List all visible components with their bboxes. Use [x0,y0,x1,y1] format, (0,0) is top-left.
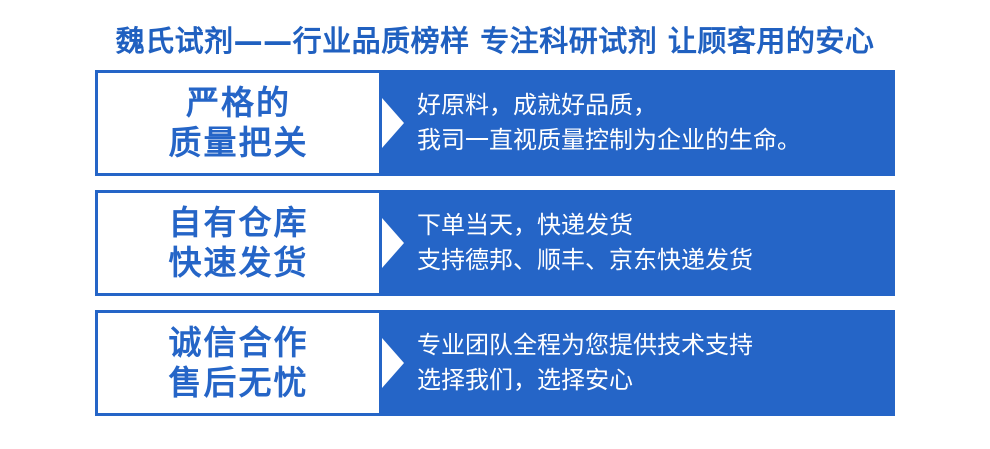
feature-body-line: 选择我们，选择安心 [417,363,883,398]
arrow-icon [382,218,404,268]
feature-body-line: 好原料，成就好品质， [417,88,883,123]
feature-body-line: 我司一直视质量控制为企业的生命。 [417,123,883,158]
feature-body-line: 下单当天，快递发货 [417,208,883,243]
promo-banner: 魏氏试剂——行业品质榜样 专注科研试剂 让顾客用的安心 严格的 质量把关 好原料… [0,0,990,449]
feature-body-line: 专业团队全程为您提供技术支持 [417,328,883,363]
feature-title-line: 自有仓库 [169,203,309,243]
feature-body-line: 支持德邦、顺丰、京东快递发货 [417,243,883,278]
arrow-icon [382,338,404,388]
feature-title-line: 质量把关 [169,123,309,163]
feature-row: 自有仓库 快速发货 下单当天，快递发货 支持德邦、顺丰、京东快递发货 [95,190,895,296]
feature-body-box: 好原料，成就好品质， 我司一直视质量控制为企业的生命。 [382,70,895,176]
feature-title-box: 自有仓库 快速发货 [95,190,382,296]
feature-title-line: 严格的 [186,83,291,123]
feature-list: 严格的 质量把关 好原料，成就好品质， 我司一直视质量控制为企业的生命。 自有仓… [95,70,895,416]
feature-body-box: 专业团队全程为您提供技术支持 选择我们，选择安心 [382,310,895,416]
feature-title-line: 快速发货 [169,243,309,283]
arrow-icon [382,98,404,148]
feature-title-line: 售后无忧 [169,363,309,403]
page-title: 魏氏试剂——行业品质榜样 专注科研试剂 让顾客用的安心 [0,18,990,60]
feature-row: 严格的 质量把关 好原料，成就好品质， 我司一直视质量控制为企业的生命。 [95,70,895,176]
feature-body-box: 下单当天，快递发货 支持德邦、顺丰、京东快递发货 [382,190,895,296]
feature-row: 诚信合作 售后无忧 专业团队全程为您提供技术支持 选择我们，选择安心 [95,310,895,416]
feature-title-line: 诚信合作 [169,323,309,363]
feature-title-box: 严格的 质量把关 [95,70,382,176]
feature-title-box: 诚信合作 售后无忧 [95,310,382,416]
